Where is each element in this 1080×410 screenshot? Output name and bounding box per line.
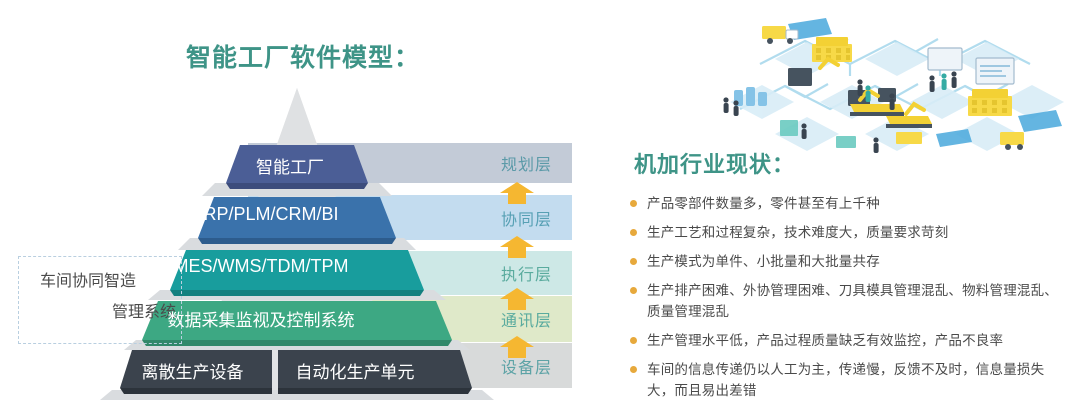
list-item: 生产工艺和过程复杂，技术难度大，质量要求苛刻 [630, 222, 1070, 243]
up-arrow-icon [500, 182, 534, 204]
pyramid-label-data-acquisition: 数据采集监视及控制系统 [0, 306, 522, 331]
list-item-text: 生产工艺和过程复杂，技术难度大，质量要求苛刻 [647, 222, 948, 243]
list-item-text: 生产排产困难、外协管理困难、刀具模具管理混乱、物料管理混乱、质量管理混乱 [647, 280, 1070, 322]
bullet-dot-icon [630, 258, 637, 265]
pyramid-label-discrete-equipment: 离散生产设备 [120, 358, 265, 383]
pyramid-label-smart-factory: 智能工厂 [0, 153, 580, 178]
list-item: 车间的信息传递仍以人工为主，传递慢，反馈不及时，信息量损失大，而且易出差错 [630, 359, 1070, 401]
bullet-dot-icon [630, 366, 637, 373]
isometric-factory-illustration [700, 4, 1080, 154]
list-item: 生产排产困难、外协管理困难、刀具模具管理混乱、物料管理混乱、质量管理混乱 [630, 280, 1070, 322]
list-item-text: 车间的信息传递仍以人工为主，传递慢，反馈不及时，信息量损失大，而且易出差错 [647, 359, 1070, 401]
page-title-right: 机加行业现状： [634, 147, 795, 179]
bullet-dot-icon [630, 337, 637, 344]
pyramid-label-erp: ERP/PLM/CRM/BI [0, 204, 530, 225]
pyramid-label-automation-cell: 自动化生产单元 [275, 358, 435, 383]
list-item-text: 产品零部件数量多，零件甚至有上千种 [647, 193, 880, 214]
up-arrow-icon [500, 288, 534, 310]
list-item: 生产模式为单件、小批量和大批量共存 [630, 251, 1070, 272]
list-item: 生产管理水平低，产品过程质量缺乏有效监控，产品不良率 [630, 330, 1070, 351]
up-arrow-icon [500, 236, 534, 258]
list-item-text: 生产模式为单件、小批量和大批量共存 [647, 251, 880, 272]
list-item: 产品零部件数量多，零件甚至有上千种 [630, 193, 1070, 214]
slide-canvas: 智能工厂软件模型： 规划层 协同层 执行层 通讯层 设备层 [0, 0, 1080, 410]
pyramid-label-mes: MES/WMS/TDM/TPM [0, 256, 522, 277]
list-item-text: 生产管理水平低，产品过程质量缺乏有效监控，产品不良率 [647, 330, 1003, 351]
industry-status-list: 产品零部件数量多，零件甚至有上千种 生产工艺和过程复杂，技术难度大，质量要求苛刻… [630, 193, 1070, 409]
bullet-dot-icon [630, 229, 637, 236]
bullet-dot-icon [630, 287, 637, 294]
up-arrow-icon [500, 336, 534, 358]
bullet-dot-icon [630, 200, 637, 207]
